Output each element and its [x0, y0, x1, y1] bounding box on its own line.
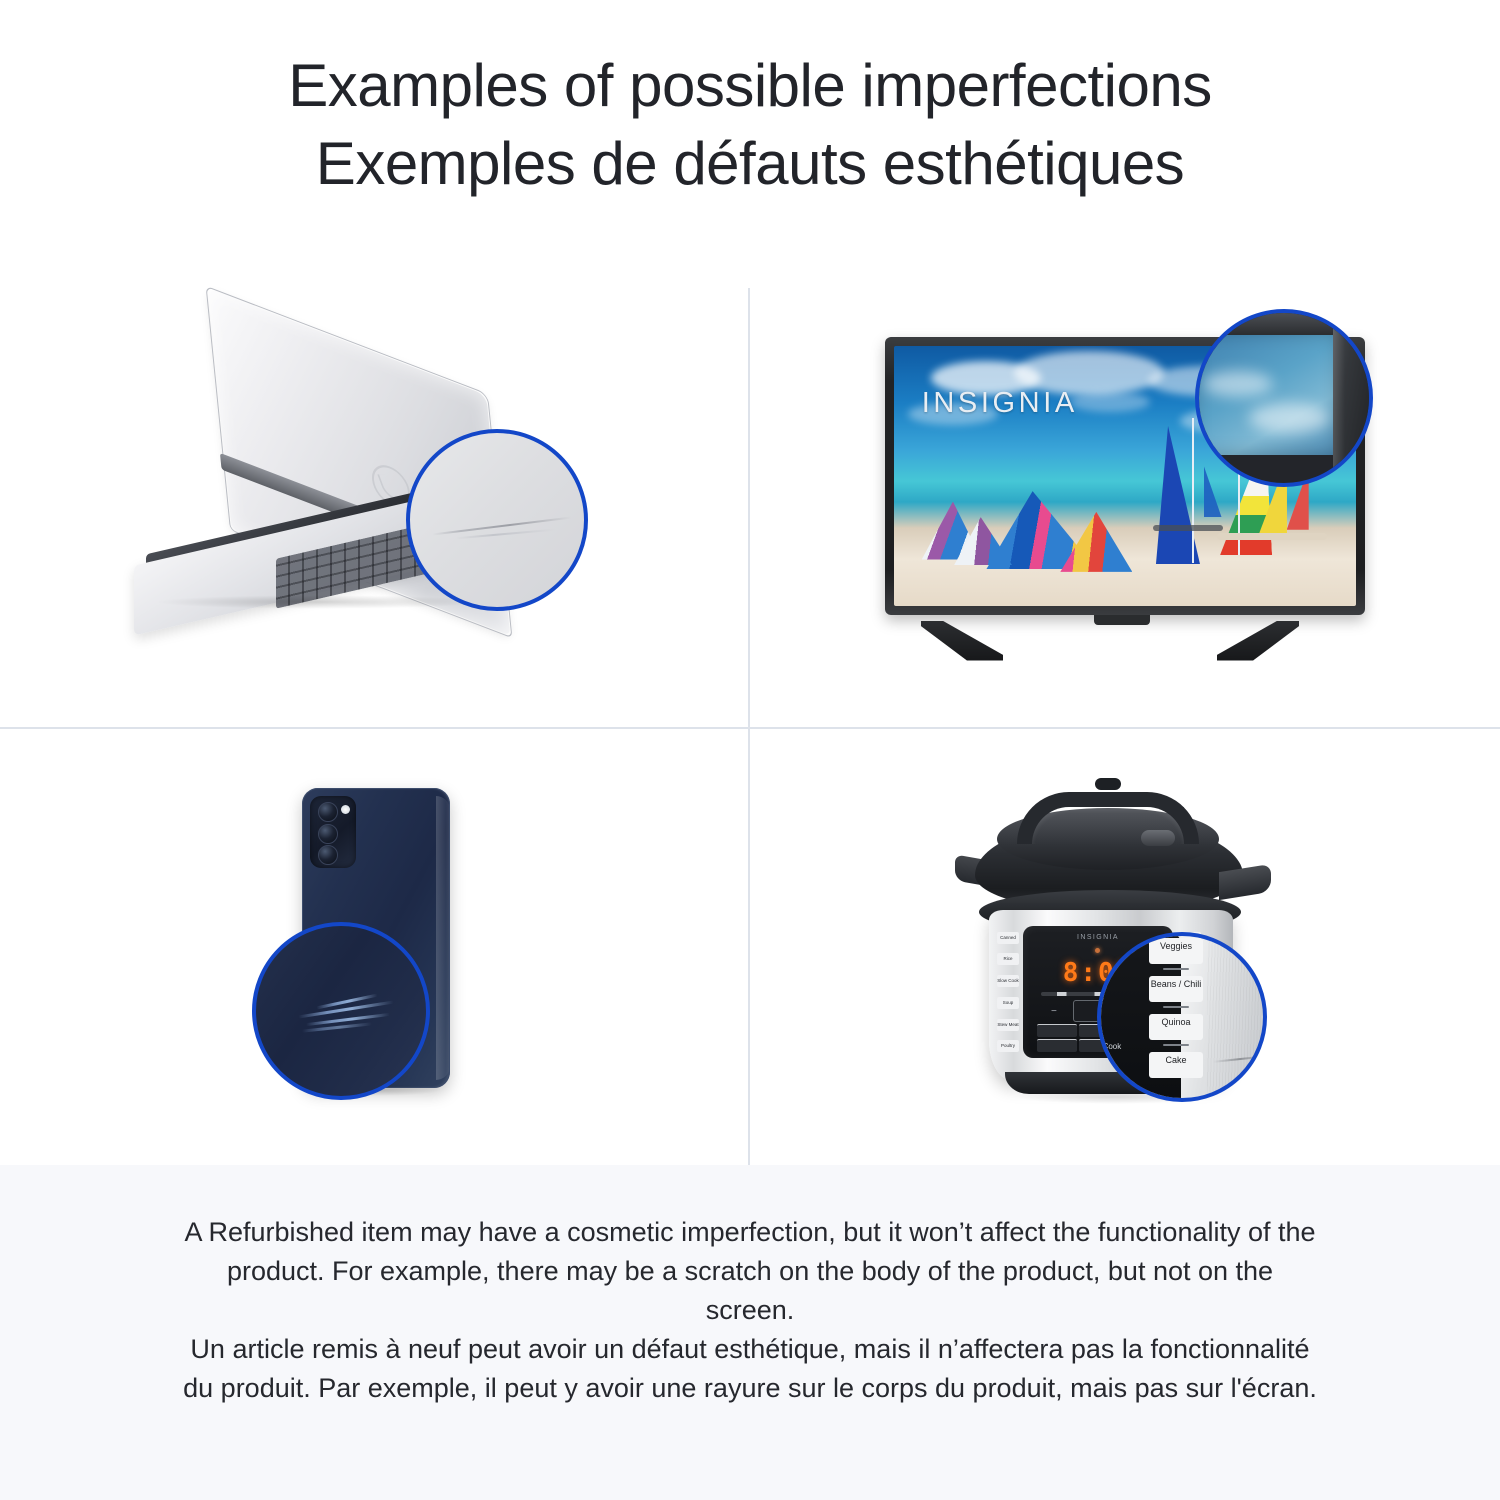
cooker-zoom-button[interactable]: Cake: [1149, 1052, 1203, 1078]
phone-camera-module: [310, 796, 356, 868]
example-cell-pressure-cooker: Canned Rice Slow Cook Soup Stew Meat Pou…: [750, 729, 1500, 1165]
camera-lens-icon: [318, 824, 338, 844]
tv-corner-screen-zoom: [1195, 331, 1339, 455]
cooker-zoom-button[interactable]: Quinoa: [1149, 1014, 1203, 1040]
page-footer: A Refurbished item may have a cosmetic i…: [0, 1165, 1500, 1500]
example-cell-laptop: [0, 250, 748, 727]
laptop-scratch-mark: [432, 516, 571, 535]
cooker-button[interactable]: [1037, 1039, 1077, 1052]
cooker-zoom-label: Slow Cook: [1097, 1042, 1121, 1051]
cooker-button[interactable]: Stew Meat: [997, 1019, 1019, 1031]
cooker-button[interactable]: Soup: [997, 997, 1019, 1009]
page-title-fr: Exemples de défauts esthétiques: [316, 125, 1184, 203]
cooker-handle-knob: [1095, 778, 1121, 790]
example-cell-tv: INSIGNIA: [750, 250, 1500, 727]
footer-paragraph-fr: Un article remis à neuf peut avoir un dé…: [180, 1330, 1320, 1408]
tv-illustration: INSIGNIA: [865, 309, 1385, 669]
cloud-icon: [1203, 371, 1273, 397]
beach-catamaran-hull: [1217, 533, 1327, 540]
magnifier-circle-tv: [1195, 309, 1373, 487]
sailboat-mast: [1192, 418, 1194, 563]
cooker-brushed-steel-zoom: [1207, 936, 1267, 1102]
imperfections-infographic: Examples of possible imperfections Exemp…: [0, 0, 1500, 1500]
sailboat-small-sail: [1204, 465, 1222, 517]
camera-flash-icon: [341, 805, 350, 814]
cooker-zoom-button[interactable]: Beans / Chili: [1149, 976, 1203, 1002]
tv-stand-leg-left: [921, 621, 1003, 661]
laptop-shadow: [154, 595, 484, 609]
cooker-button[interactable]: [1037, 1024, 1077, 1037]
sailboat-hull: [1153, 525, 1223, 531]
camera-lens-icon: [318, 802, 338, 822]
tv-ir-receiver: [1094, 615, 1150, 625]
tv-stand-leg-right: [1217, 621, 1299, 661]
tv-corner-side-bezel-zoom: [1333, 313, 1373, 487]
phone-illustration: [224, 782, 524, 1112]
example-cell-phone: [0, 729, 748, 1165]
laptop-illustration: [124, 339, 624, 639]
pressure-cooker-illustration: Canned Rice Slow Cook Soup Stew Meat Pou…: [945, 772, 1305, 1122]
cooker-button[interactable]: Canned: [997, 932, 1019, 944]
footer-paragraph-en: A Refurbished item may have a cosmetic i…: [180, 1213, 1320, 1330]
cooker-button[interactable]: Poultry: [997, 1040, 1019, 1052]
magnifier-circle-cooker: Delay Slow Cook Veggies Beans / Chili Qu…: [1097, 932, 1267, 1102]
cooker-button[interactable]: Slow Cook: [997, 975, 1019, 987]
page-title-en: Examples of possible imperfections: [288, 47, 1211, 125]
cloud-icon: [1070, 392, 1150, 412]
cooker-decrease-icon[interactable]: −: [1051, 1006, 1057, 1017]
page-header: Examples of possible imperfections Exemp…: [0, 0, 1500, 250]
cooker-button[interactable]: Rice: [997, 953, 1019, 965]
tv-brand-logo: INSIGNIA: [922, 387, 1078, 420]
cooker-lid-handle: [1017, 792, 1199, 844]
camera-lens-icon: [318, 845, 338, 865]
cooker-zoom-button[interactable]: Veggies: [1149, 938, 1203, 964]
cooker-zoom-separator: [1163, 968, 1189, 970]
magnifier-circle-laptop: [406, 429, 588, 611]
product-example-grid: INSIGNIA: [0, 250, 1500, 1165]
cooker-zoom-separator: [1163, 1044, 1189, 1046]
cooker-status-indicator: [1095, 948, 1100, 953]
magnifier-circle-phone: [252, 922, 430, 1100]
cooker-left-button-column: Canned Rice Slow Cook Soup Stew Meat Pou…: [995, 922, 1021, 1062]
cooker-zoom-separator: [1163, 1006, 1189, 1008]
cloud-icon: [1249, 403, 1329, 433]
